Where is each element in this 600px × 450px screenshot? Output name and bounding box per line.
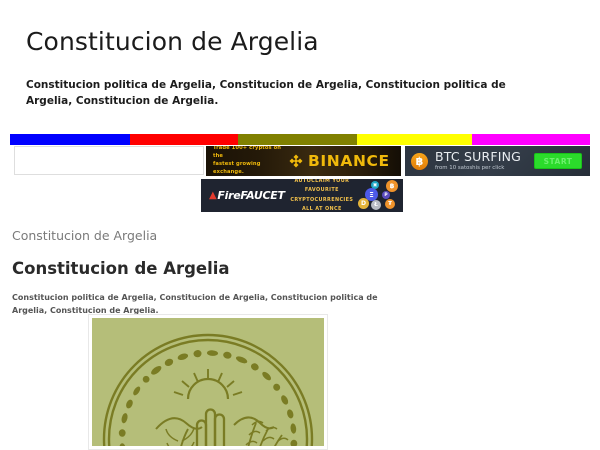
firefaucet-coin-cluster: ▣Ξ฿PDŁ₮ bbox=[355, 180, 399, 211]
binance-tagline: Trade 100+ cryptos on the fastest growin… bbox=[206, 146, 286, 176]
coin-purple: P bbox=[382, 191, 390, 199]
ad-banner-binance[interactable]: Trade 100+ cryptos on the fastest growin… bbox=[206, 146, 401, 176]
btc-surfing-title: BTC SURFING bbox=[435, 151, 534, 164]
emblem-image-frame bbox=[88, 314, 328, 450]
empty-ad-placeholder[interactable] bbox=[14, 146, 204, 175]
color-segment-olive bbox=[238, 134, 357, 145]
page-title: Constitucion de Argelia bbox=[26, 28, 600, 57]
binance-brand-label: BINANCE bbox=[308, 152, 390, 170]
binance-tagline-line2: fastest growing exchange. bbox=[213, 161, 286, 176]
firefaucet-copy-line3: ALL AT ONCE bbox=[289, 205, 355, 212]
color-strip bbox=[10, 134, 590, 145]
firefaucet-brand-prefix: Fire bbox=[217, 189, 240, 202]
article-section: Constitucion de Argelia Constitucion de … bbox=[12, 228, 588, 317]
btc-surfing-subtitle: from 10 satoshis per click bbox=[435, 166, 534, 171]
firefaucet-logo: ▲ FireFAUCET bbox=[209, 189, 285, 202]
flame-icon: ▲ bbox=[209, 190, 216, 201]
bitcoin-coin-icon: ฿ bbox=[411, 153, 428, 170]
page-description: Constitucion politica de Argelia, Consti… bbox=[26, 77, 582, 110]
firefaucet-copy-line2: CRYPTOCURRENCIES bbox=[289, 196, 355, 205]
firefaucet-brand-suffix: FAUCET bbox=[240, 189, 284, 202]
btc-surfing-start-button[interactable]: START bbox=[534, 153, 582, 169]
ad-banner-btc-surfing[interactable]: ฿ BTC SURFING from 10 satoshis per click… bbox=[405, 146, 590, 176]
firefaucet-copy: AUTOCLAIM YOUR FAVOURITE CRYPTOCURRENCIE… bbox=[289, 179, 355, 212]
breadcrumb: Constitucion de Argelia bbox=[12, 228, 588, 243]
btc-surfing-text: BTC SURFING from 10 satoshis per click bbox=[435, 151, 534, 171]
coin-litecoin: Ł bbox=[371, 200, 381, 210]
coin-bitcoin: ฿ bbox=[386, 180, 398, 192]
advertisement-area: Trade 100+ cryptos on the fastest growin… bbox=[0, 146, 600, 216]
color-segment-magenta bbox=[472, 134, 590, 145]
binance-tagline-line1: Trade 100+ cryptos on the bbox=[213, 146, 286, 161]
page-header: Constitucion de Argelia Constitucion pol… bbox=[0, 0, 600, 109]
coin-tether: ₮ bbox=[385, 199, 395, 209]
color-segment-yellow bbox=[357, 134, 472, 145]
ad-banner-firefaucet[interactable]: ▲ FireFAUCET AUTOCLAIM YOUR FAVOURITE CR… bbox=[201, 179, 403, 212]
color-segment-red bbox=[130, 134, 238, 145]
binance-diamond-icon bbox=[288, 153, 304, 169]
color-segment-blue bbox=[10, 134, 130, 145]
seal-of-algeria-image bbox=[92, 318, 324, 446]
article-heading: Constitucion de Argelia bbox=[12, 259, 588, 279]
firefaucet-copy-line1: AUTOCLAIM YOUR FAVOURITE bbox=[289, 179, 355, 196]
binance-logo: BINANCE bbox=[288, 152, 390, 170]
coin-dogecoin: D bbox=[358, 198, 369, 209]
